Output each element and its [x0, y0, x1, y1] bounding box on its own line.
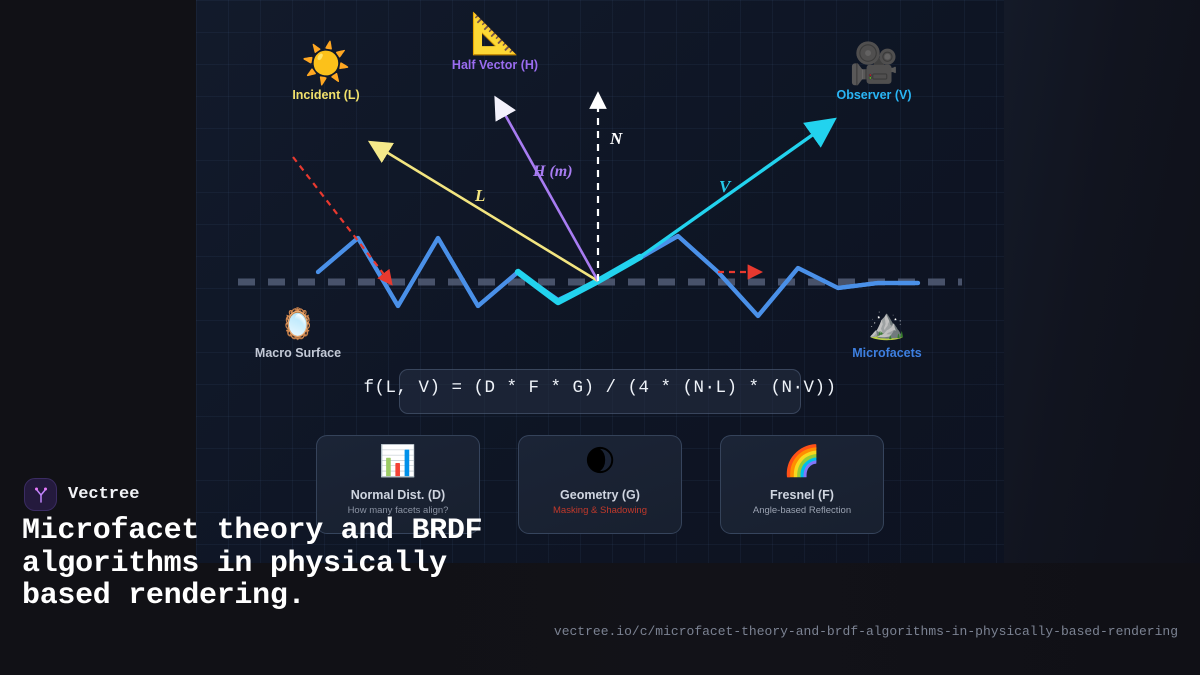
card-geometry[interactable]: 🌒 Geometry (G) Masking & Shadowing	[518, 435, 682, 534]
node-label-observer: Observer (V)	[794, 88, 954, 102]
card-title: Geometry (G)	[519, 488, 681, 502]
rainbow-icon: 🌈	[721, 444, 883, 480]
card-subtitle: Masking & Shadowing	[519, 505, 681, 516]
vector-label-V: V	[719, 177, 730, 197]
microfacet-surface-zigzag	[318, 236, 918, 316]
node-macro-surface: 🪞 Macro Surface	[218, 308, 378, 360]
node-label-incident: Incident (L)	[246, 88, 406, 102]
node-label-macro-surface: Macro Surface	[218, 346, 378, 360]
node-incident-light: ☀️ Incident (L)	[246, 42, 406, 102]
tree-glyph-icon	[31, 485, 51, 505]
node-label-half-vector: Half Vector (H)	[415, 58, 575, 72]
brand-name: Vectree	[68, 485, 139, 504]
half-vector-H	[503, 111, 598, 281]
microfacet-surface-zigzag-left	[318, 238, 598, 306]
vector-label-N: N	[610, 129, 622, 149]
sun-icon: ☀️	[246, 42, 406, 86]
card-title: Fresnel (F)	[721, 488, 883, 502]
brdf-formula: f(L, V) = (D * F * G) / (4 * (N·L) * (N·…	[0, 378, 1200, 398]
source-url: vectree.io/c/microfacet-theory-and-brdf-…	[0, 624, 1178, 639]
microfacet-surface-zigzag-right	[640, 236, 918, 316]
vector-label-H: H (m)	[533, 163, 573, 181]
triangular-ruler-icon: 📐	[415, 12, 575, 56]
page-title: Microfacet theory and BRDF algorithms in…	[22, 515, 522, 613]
mirror-icon: 🪞	[218, 308, 378, 342]
node-half-vector: 📐 Half Vector (H)	[415, 12, 575, 72]
card-fresnel[interactable]: 🌈 Fresnel (F) Angle-based Reflection	[720, 435, 884, 534]
card-subtitle: Angle-based Reflection	[721, 505, 883, 516]
movie-camera-icon: 🎥	[794, 42, 954, 86]
node-observer: 🎥 Observer (V)	[794, 42, 954, 102]
vector-label-L: L	[475, 186, 485, 206]
brand: Vectree	[24, 478, 139, 511]
bar-chart-icon: 📊	[317, 444, 479, 480]
vectree-logo-icon	[24, 478, 57, 511]
screenshot-root: ☀️ Incident (L) 📐 Half Vector (H) 🎥 Obse…	[0, 0, 1200, 675]
mountain-icon: ⛰️	[807, 308, 967, 342]
node-label-microfacets: Microfacets	[807, 346, 967, 360]
node-microfacets: ⛰️ Microfacets	[807, 308, 967, 360]
card-title: Normal Dist. (D)	[317, 488, 479, 502]
crescent-moon-icon: 🌒	[519, 444, 681, 480]
